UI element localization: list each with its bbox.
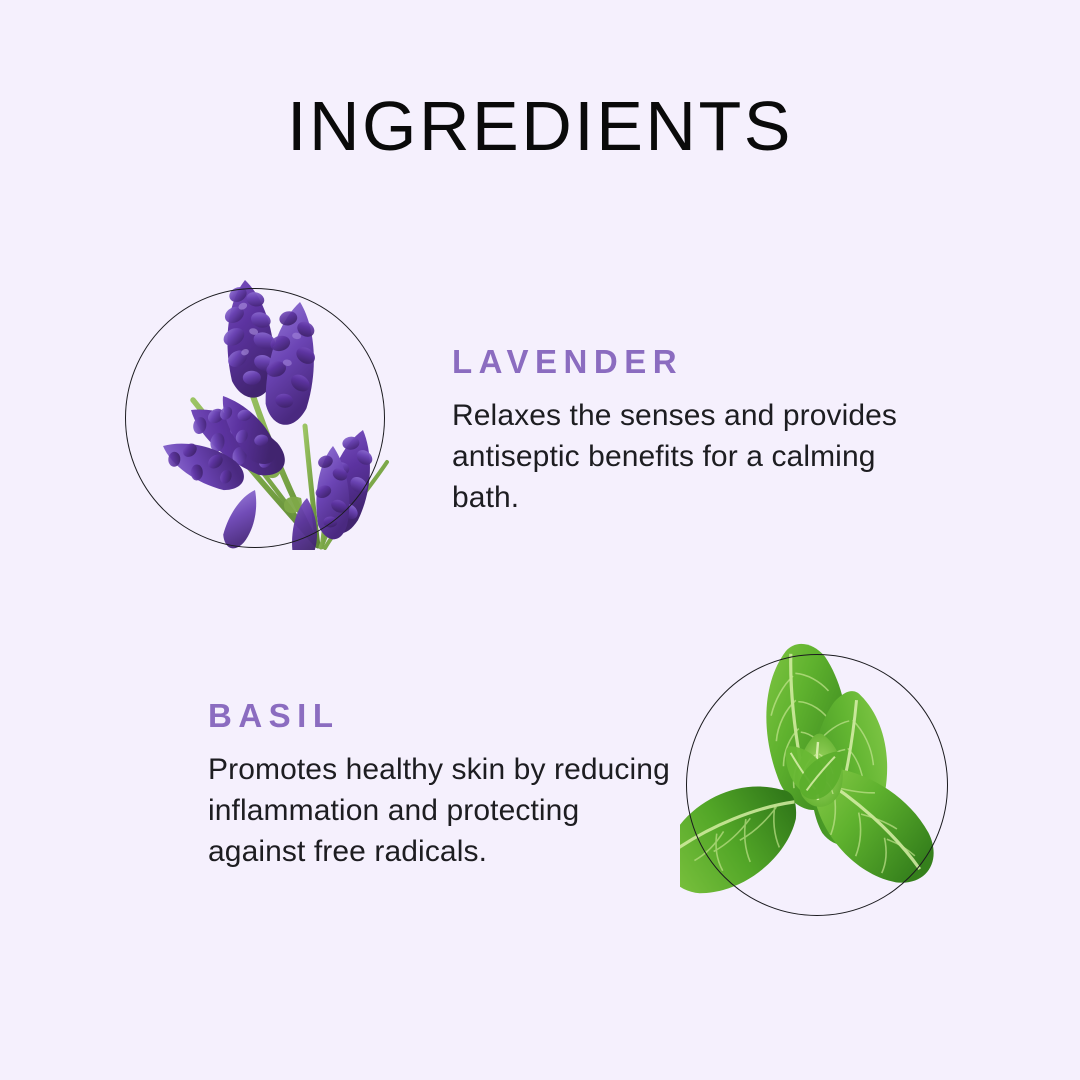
- lavender-description: Relaxes the senses and provides antisept…: [452, 395, 922, 518]
- basil-description: Promotes healthy skin by reducing inflam…: [208, 749, 678, 872]
- lavender-text-block: LAVENDER Relaxes the senses and provides…: [452, 343, 922, 518]
- ingredients-page: INGREDIENTS: [0, 0, 1080, 1080]
- lavender-heading: LAVENDER: [452, 343, 922, 381]
- page-title: INGREDIENTS: [0, 87, 1080, 165]
- basil-image-circle-frame: [686, 654, 948, 916]
- lavender-image-circle-frame: [125, 288, 385, 548]
- basil-text-block: BASIL Promotes healthy skin by reducing …: [208, 697, 678, 872]
- basil-heading: BASIL: [208, 697, 678, 735]
